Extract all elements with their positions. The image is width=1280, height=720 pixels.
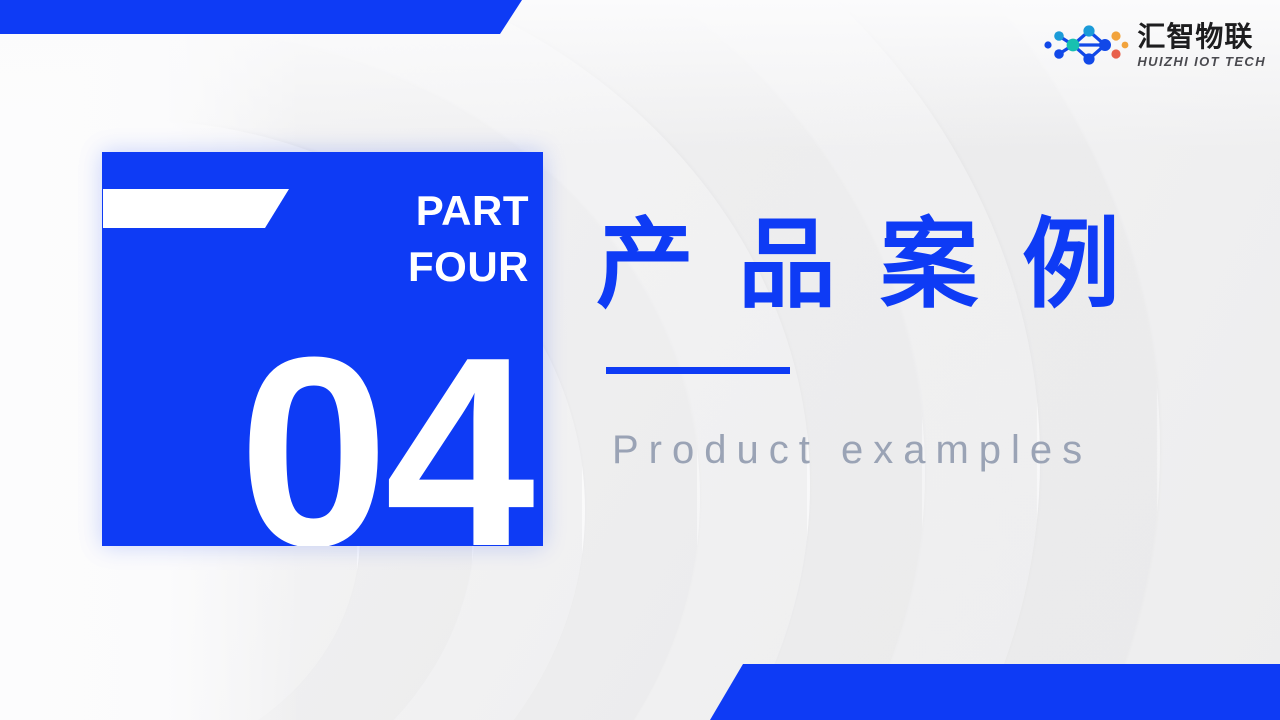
white-accent-bar (103, 189, 289, 228)
section-title-cn: 产品案例 (596, 206, 1164, 324)
brand-logo: 汇智物联 HUIZHI IOT TECH (1043, 22, 1266, 68)
part-label: PART FOUR (337, 183, 529, 295)
section-subtitle-en: Product examples (612, 424, 1092, 476)
logo-name-cn: 汇智物联 (1137, 23, 1266, 51)
section-number-card: PART FOUR 04 (102, 152, 543, 546)
logo-wordmark: 汇智物联 HUIZHI IOT TECH (1137, 23, 1266, 68)
title-underline (606, 367, 790, 374)
part-label-line1: PART (337, 183, 529, 239)
logo-name-en: HUIZHI IOT TECH (1137, 55, 1266, 68)
bottom-right-blue-accent-bar (710, 664, 1280, 720)
huizhi-molecule-logo-icon (1043, 22, 1129, 68)
top-left-blue-accent-bar (0, 0, 522, 34)
part-label-line2: FOUR (337, 239, 529, 295)
presentation-slide: 汇智物联 HUIZHI IOT TECH PART FOUR 04 产品案例 P… (0, 0, 1280, 720)
section-number: 04 (102, 327, 543, 546)
